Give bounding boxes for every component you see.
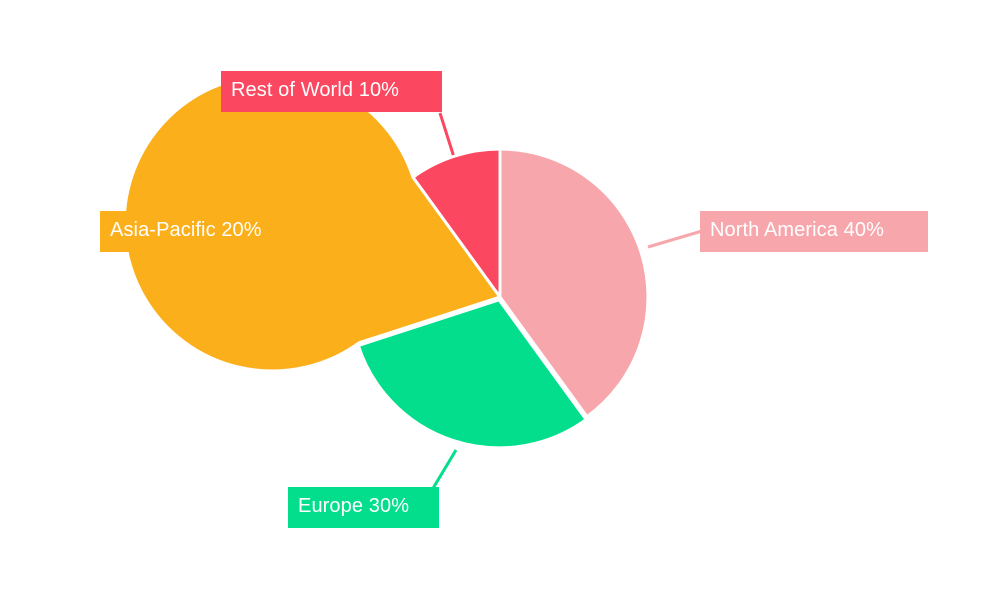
slice-label-europe: Europe 30% bbox=[288, 487, 439, 528]
pie-chart-figure: North America 40%Europe 30%Asia-Pacific … bbox=[0, 0, 1000, 600]
pie-chart-canvas bbox=[0, 0, 1000, 600]
slice-label-rest-of-world: Rest of World 10% bbox=[221, 71, 442, 112]
leader-line-north-america bbox=[648, 231, 702, 247]
leader-line-europe bbox=[432, 450, 456, 490]
slice-label-asia-pacific: Asia-Pacific 20% bbox=[100, 211, 298, 252]
slice-label-north-america: North America 40% bbox=[700, 211, 928, 252]
pie-slices-group bbox=[124, 75, 648, 448]
